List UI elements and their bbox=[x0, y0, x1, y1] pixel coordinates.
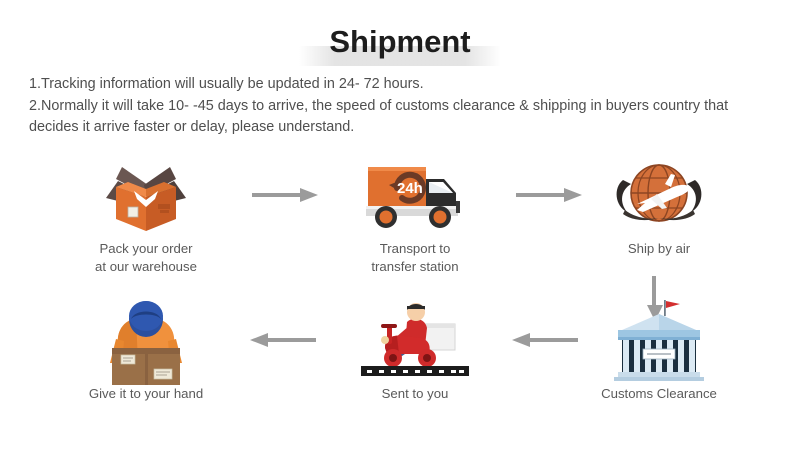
caption-transport: Transport to transfer station bbox=[320, 240, 510, 276]
caption-line-1: Give it to your hand bbox=[51, 385, 241, 403]
flow-step-pack-order: Pack your order at our warehouse bbox=[51, 148, 241, 276]
arrow-left-icon bbox=[250, 329, 316, 351]
caption-line-1: Pack your order bbox=[51, 240, 241, 258]
title-highlight-band: Shipment bbox=[299, 22, 500, 64]
note-line-2: 2.Normally it will take 10- -45 days to … bbox=[29, 96, 774, 139]
caption-line-2: at our warehouse bbox=[51, 258, 241, 276]
flow-top-row: Pack your order at our warehouse bbox=[0, 148, 800, 293]
caption-line-2: transfer station bbox=[320, 258, 510, 276]
flow-step-give-to-hand: Give it to your hand bbox=[51, 293, 241, 403]
truck-badge-label: 24h bbox=[397, 180, 423, 197]
caption-ship-by-air: Ship by air bbox=[564, 240, 754, 258]
flow-bottom-row: Give it to your hand bbox=[0, 293, 800, 438]
note-line-1: 1.Tracking information will usually be u… bbox=[29, 74, 774, 96]
shipment-flow: Pack your order at our warehouse bbox=[0, 148, 800, 438]
open-box-icon bbox=[51, 148, 241, 240]
flow-step-sent-to-you: Sent to you bbox=[320, 293, 510, 403]
caption-pack-order: Pack your order at our warehouse bbox=[51, 240, 241, 276]
flow-step-ship-by-air: Ship by air bbox=[564, 148, 754, 258]
caption-line-1: Transport to bbox=[320, 240, 510, 258]
customs-building-icon bbox=[564, 293, 754, 385]
flow-step-transport: 24h Transport to transfer station bbox=[320, 148, 510, 276]
courier-handing-box-icon bbox=[51, 293, 241, 385]
scooter-courier-icon bbox=[320, 293, 510, 385]
caption-line-1: Sent to you bbox=[320, 385, 510, 403]
arrow-right-icon bbox=[252, 184, 318, 206]
caption-line-1: Customs Clearance bbox=[564, 385, 754, 403]
page-title: Shipment bbox=[329, 24, 470, 59]
page-title-container: Shipment bbox=[0, 22, 800, 64]
delivery-truck-icon: 24h bbox=[320, 148, 510, 240]
caption-line-1: Ship by air bbox=[564, 240, 754, 258]
globe-airplane-icon bbox=[564, 148, 754, 240]
caption-give-to-hand: Give it to your hand bbox=[51, 385, 241, 403]
shipment-notes: 1.Tracking information will usually be u… bbox=[29, 74, 774, 139]
caption-sent-to-you: Sent to you bbox=[320, 385, 510, 403]
caption-customs-clearance: Customs Clearance bbox=[564, 385, 754, 403]
flow-step-customs-clearance: Customs Clearance bbox=[564, 293, 754, 403]
